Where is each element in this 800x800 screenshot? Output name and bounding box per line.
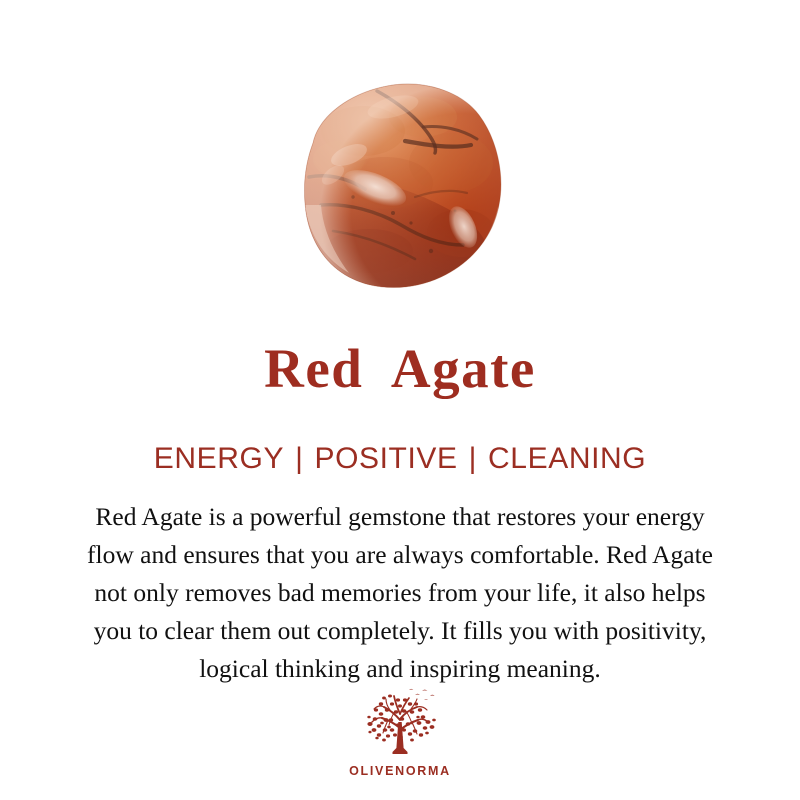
product-infographic: Red Agate ENERGY|POSITIVE|CLEANING Red A… bbox=[0, 0, 800, 800]
keyword-cleaning: CLEANING bbox=[488, 440, 646, 478]
keyword-positive: POSITIVE bbox=[314, 440, 457, 478]
description-line: not only removes bad memories from your … bbox=[18, 574, 782, 612]
red-agate-stone-image bbox=[265, 55, 540, 305]
page-title: Red Agate bbox=[0, 338, 800, 400]
brand-logo: OLIVENORMA bbox=[0, 686, 800, 778]
birds-icon bbox=[409, 689, 435, 700]
keyword-separator-1: | bbox=[284, 440, 314, 478]
description-line: Red Agate is a powerful gemstone that re… bbox=[18, 498, 782, 536]
keyword-energy: ENERGY bbox=[154, 440, 284, 478]
keyword-separator-2: | bbox=[458, 440, 488, 478]
brand-name: OLIVENORMA bbox=[0, 764, 800, 778]
stone-body bbox=[265, 55, 540, 305]
keyword-list: ENERGY|POSITIVE|CLEANING bbox=[0, 440, 800, 478]
description-line: logical thinking and inspiring meaning. bbox=[18, 650, 782, 688]
description-line: you to clear them out completely. It fil… bbox=[18, 612, 782, 650]
product-description: Red Agate is a powerful gemstone that re… bbox=[18, 498, 782, 688]
product-image-area bbox=[0, 0, 800, 315]
tree-of-life-icon bbox=[354, 686, 446, 762]
description-line: flow and ensures that you are always com… bbox=[18, 536, 782, 574]
